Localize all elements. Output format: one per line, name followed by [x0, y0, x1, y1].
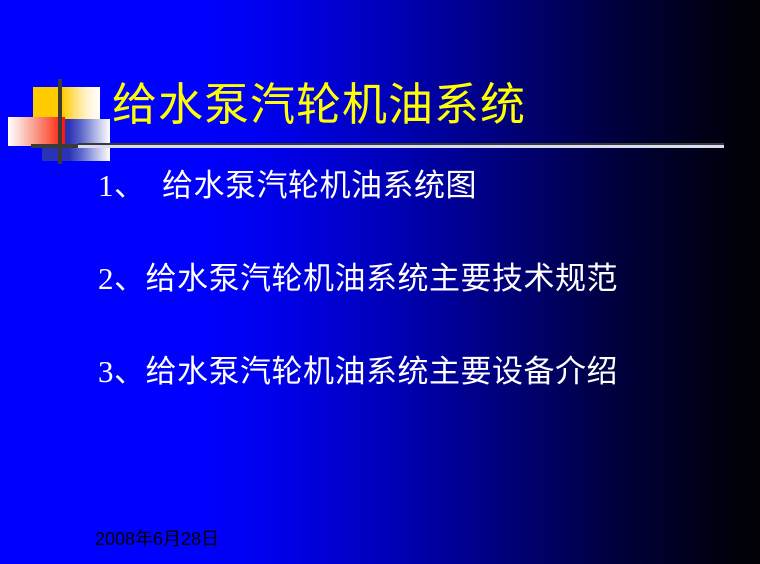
logo-vertical-rule [58, 79, 62, 164]
slide-title: 给水泵汽轮机油系统 [112, 77, 526, 133]
title-divider-rule [78, 143, 724, 148]
list-item: 2、给水泵汽轮机油系统主要技术规范 [98, 261, 718, 297]
logo-gold-square [33, 87, 100, 121]
presentation-slide: 给水泵汽轮机油系统 1、 给水泵汽轮机油系统图 2、给水泵汽轮机油系统主要技术规… [0, 0, 760, 564]
slide-body-list: 1、 给水泵汽轮机油系统图 2、给水泵汽轮机油系统主要技术规范 3、给水泵汽轮机… [98, 168, 718, 390]
title-divider-light-edge [78, 145, 724, 148]
list-item: 1、 给水泵汽轮机油系统图 [98, 168, 718, 204]
logo-red-square [8, 117, 65, 146]
slide-date-footer: 2008年6月28日 [95, 528, 219, 550]
list-item: 3、给水泵汽轮机油系统主要设备介绍 [98, 354, 718, 390]
logo-blue-square [42, 119, 110, 161]
